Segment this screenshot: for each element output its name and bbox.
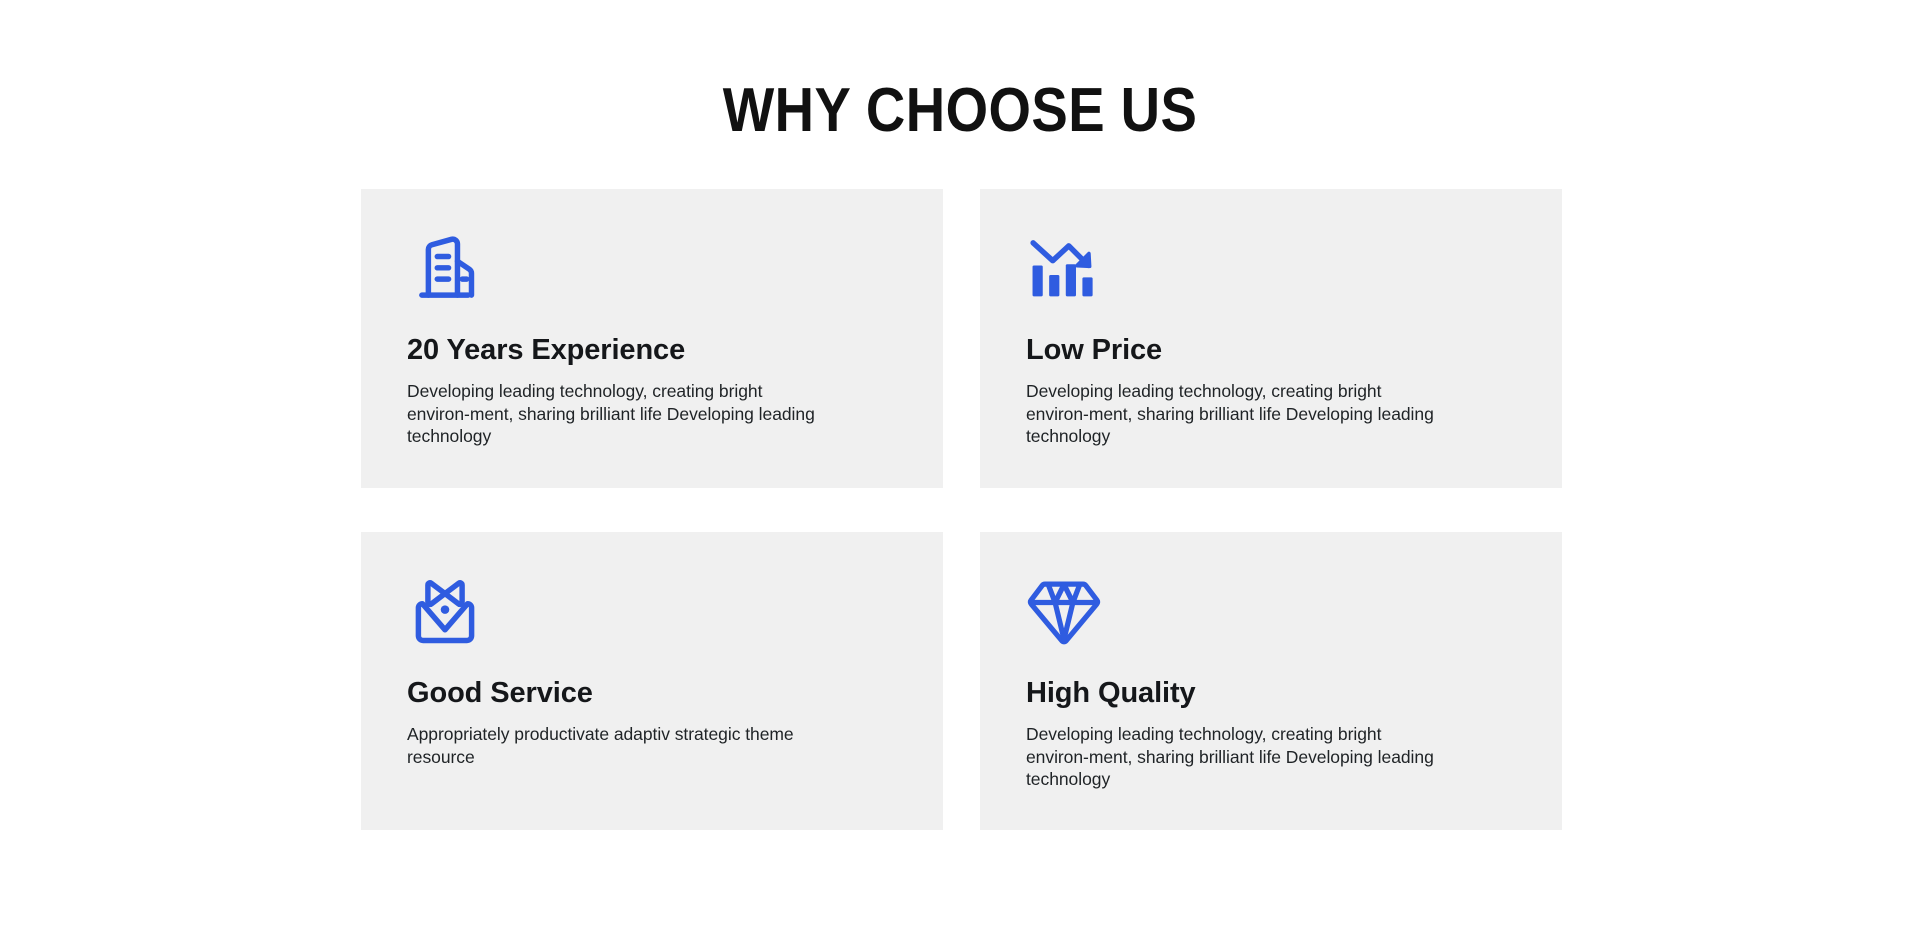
card-title: Low Price: [1026, 333, 1516, 367]
why-choose-us-section: WHY CHOOSE US 20 Years Experience Develo…: [0, 0, 1920, 930]
declining-bar-chart-icon: [1026, 231, 1102, 307]
feature-card-experience[interactable]: 20 Years Experience Developing leading t…: [361, 189, 943, 488]
feature-card-low-price[interactable]: Low Price Developing leading technology,…: [980, 189, 1562, 488]
card-description: Developing leading technology, creating …: [1026, 723, 1446, 791]
card-description: Appropriately productivate adaptiv strat…: [407, 723, 827, 768]
diamond-gem-icon: [1026, 574, 1102, 650]
feature-card-good-service[interactable]: Good Service Appropriately productivate …: [361, 532, 943, 830]
card-title: 20 Years Experience: [407, 333, 897, 367]
card-title: Good Service: [407, 676, 897, 710]
page-title: WHY CHOOSE US: [115, 78, 1805, 144]
card-title: High Quality: [1026, 676, 1516, 710]
card-description: Developing leading technology, creating …: [1026, 380, 1446, 448]
feature-cards-grid: 20 Years Experience Developing leading t…: [361, 189, 1562, 830]
feature-card-high-quality[interactable]: High Quality Developing leading technolo…: [980, 532, 1562, 830]
tuxedo-bowtie-icon: [407, 574, 483, 650]
office-building-icon: [407, 231, 483, 307]
card-description: Developing leading technology, creating …: [407, 380, 827, 448]
